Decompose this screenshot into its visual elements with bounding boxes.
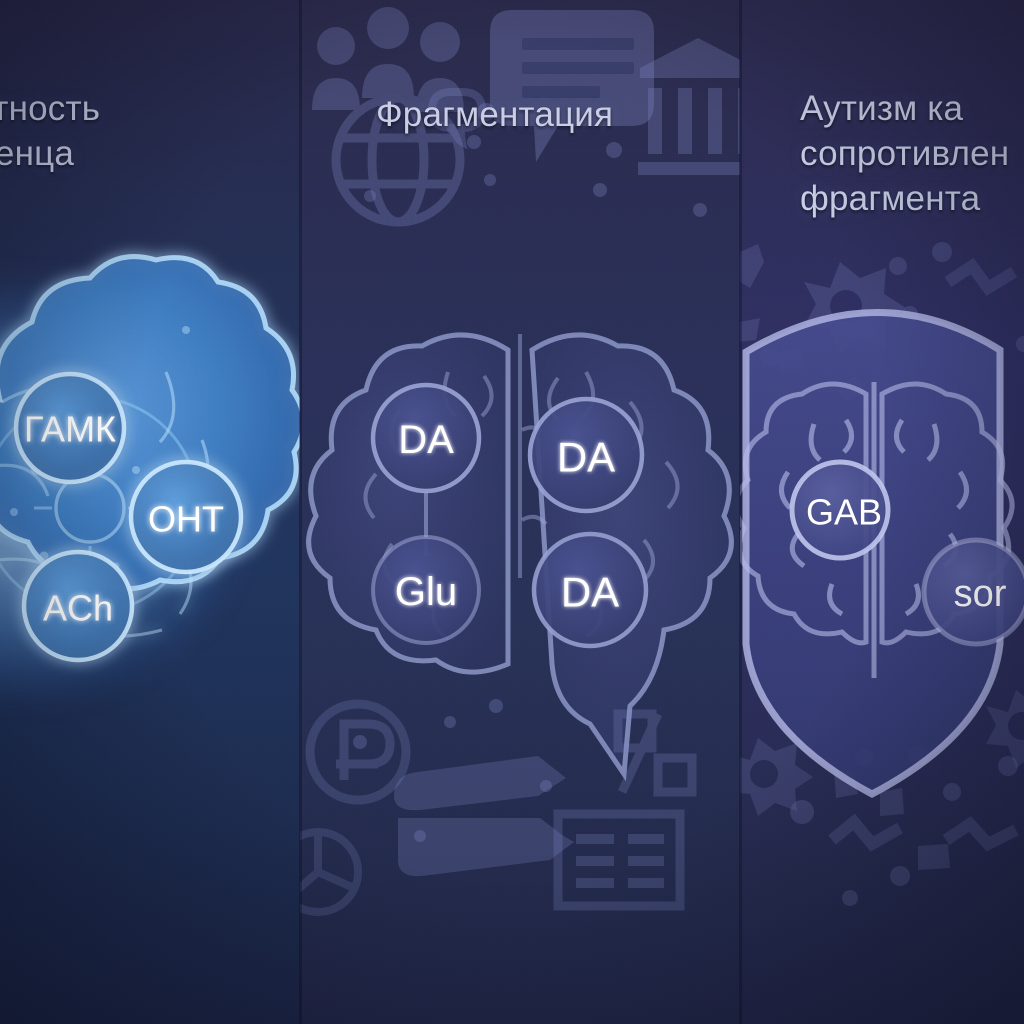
panel-divider-2 — [739, 0, 742, 1024]
node-gaba: GAB — [792, 462, 888, 558]
books-icon — [394, 756, 574, 876]
currency-ruble-glyph — [336, 724, 390, 780]
panel-integrity-title: лостность ладенца — [0, 86, 100, 176]
node-ach-label: ACh — [43, 588, 113, 629]
node-da-top-left-label: DA — [398, 418, 454, 462]
node-gaba-label: GAB — [806, 492, 882, 533]
node-ach: ACh — [24, 552, 132, 660]
node-da-top-right: DA — [530, 399, 642, 511]
node-gamk: ГАМК — [16, 374, 124, 482]
node-ser: sor — [924, 540, 1024, 644]
panel-autism-title: Аутизм ка сопротивлен фрагмента — [800, 86, 1009, 221]
node-glu: Glu — [373, 537, 479, 643]
node-da-bottom-right-label: DA — [561, 569, 619, 616]
panel-fragmentation-art: DA DA Glu DA — [300, 0, 740, 1024]
node-da-top-left: DA — [373, 385, 479, 491]
panel-divider-1 — [299, 0, 302, 1024]
node-gamk-label: ГАМК — [24, 409, 116, 450]
node-ser-label: sor — [954, 573, 1007, 615]
node-ont: ОНТ — [131, 462, 241, 572]
gear-icon-right — [986, 690, 1024, 768]
panel-fragmentation-title: Фрагментация — [376, 92, 613, 137]
document-table-rows — [576, 834, 664, 888]
infographic-canvas: ГАМК k ОНТ ACh — [0, 0, 1024, 1024]
pie-chart-icon — [300, 832, 358, 912]
node-da-bottom-right: DA — [534, 534, 646, 646]
node-da-top-right-label: DA — [557, 434, 615, 481]
node-glu-label: Glu — [395, 570, 457, 614]
node-ont-label: ОНТ — [148, 499, 224, 540]
panel-fragmentation: DA DA Glu DA — [300, 0, 740, 1024]
